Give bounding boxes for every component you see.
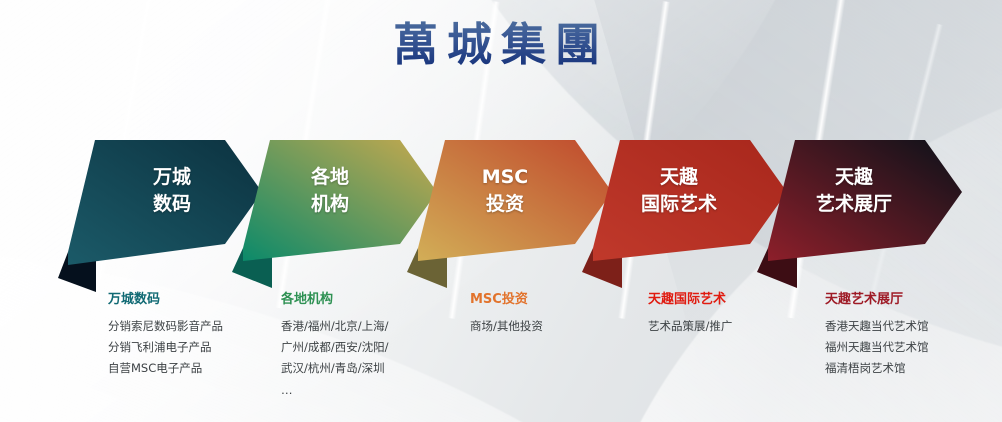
caption-title: 万城数码 [108, 292, 273, 309]
caption-title: MSC投资 [470, 292, 635, 309]
arrow-label-line1: 万城 [112, 164, 232, 191]
caption-line: 分销飞利浦电子产品 [108, 337, 273, 358]
caption-tianqu-art-gallery: 天趣艺术展厅 香港天趣当代艺术馆福州天趣当代艺术馆福清梧岗艺术馆 [825, 292, 990, 380]
arrow-label-tianqu-art-gallery: 天趣 艺术展厅 [793, 164, 915, 218]
caption-line: 福清梧岗艺术馆 [825, 358, 990, 379]
caption-line: 分销索尼数码影音产品 [108, 316, 273, 337]
diagram-canvas: 萬城集團 [0, 0, 1002, 422]
caption-title: 天趣国际艺术 [648, 292, 813, 309]
caption-lines: 香港天趣当代艺术馆福州天趣当代艺术馆福清梧岗艺术馆 [825, 316, 990, 380]
caption-lines: 香港/福州/北京/上海/广州/成都/西安/沈阳/武汉/杭州/青岛/深圳… [281, 316, 446, 401]
arrow-label-line2: 数码 [112, 191, 232, 218]
arrow-label-line2: 投资 [445, 191, 565, 218]
caption-lines: 艺术品策展/推广 [648, 316, 813, 337]
caption-line: 香港/福州/北京/上海/ [281, 316, 446, 337]
arrow-label-line1: 天趣 [793, 164, 915, 191]
arrow-label-branches: 各地 机构 [270, 164, 390, 218]
caption-msc-investment: MSC投资 商场/其他投资 [470, 292, 635, 337]
arrow-label-line2: 机构 [270, 191, 390, 218]
arrow-label-line2: 艺术展厅 [793, 191, 915, 218]
caption-line: 福州天趣当代艺术馆 [825, 337, 990, 358]
arrow-label-wancheng-digital: 万城 数码 [112, 164, 232, 218]
caption-line: … [281, 380, 446, 401]
arrow-label-line2: 国际艺术 [618, 191, 740, 218]
caption-line: 武汉/杭州/青岛/深圳 [281, 358, 446, 379]
caption-line: 商场/其他投资 [470, 316, 635, 337]
caption-tianqu-international-art: 天趣国际艺术 艺术品策展/推广 [648, 292, 813, 337]
arrow-label-msc-investment: MSC 投资 [445, 164, 565, 218]
caption-line: 艺术品策展/推广 [648, 316, 813, 337]
arrow-label-line1: 天趣 [618, 164, 740, 191]
caption-branches: 各地机构 香港/福州/北京/上海/广州/成都/西安/沈阳/武汉/杭州/青岛/深圳… [281, 292, 446, 401]
arrow-label-tianqu-international-art: 天趣 国际艺术 [618, 164, 740, 218]
caption-line: 广州/成都/西安/沈阳/ [281, 337, 446, 358]
caption-line: 香港天趣当代艺术馆 [825, 316, 990, 337]
caption-lines: 分销索尼数码影音产品分销飞利浦电子产品自营MSC电子产品 [108, 316, 273, 380]
arrow-label-line1: 各地 [270, 164, 390, 191]
caption-title: 各地机构 [281, 292, 446, 309]
arrow-label-line1: MSC [445, 164, 565, 191]
page-title: 萬城集團 [0, 20, 1002, 70]
caption-title: 天趣艺术展厅 [825, 292, 990, 309]
caption-line: 自营MSC电子产品 [108, 358, 273, 379]
caption-wancheng-digital: 万城数码 分销索尼数码影音产品分销飞利浦电子产品自营MSC电子产品 [108, 292, 273, 380]
caption-lines: 商场/其他投资 [470, 316, 635, 337]
